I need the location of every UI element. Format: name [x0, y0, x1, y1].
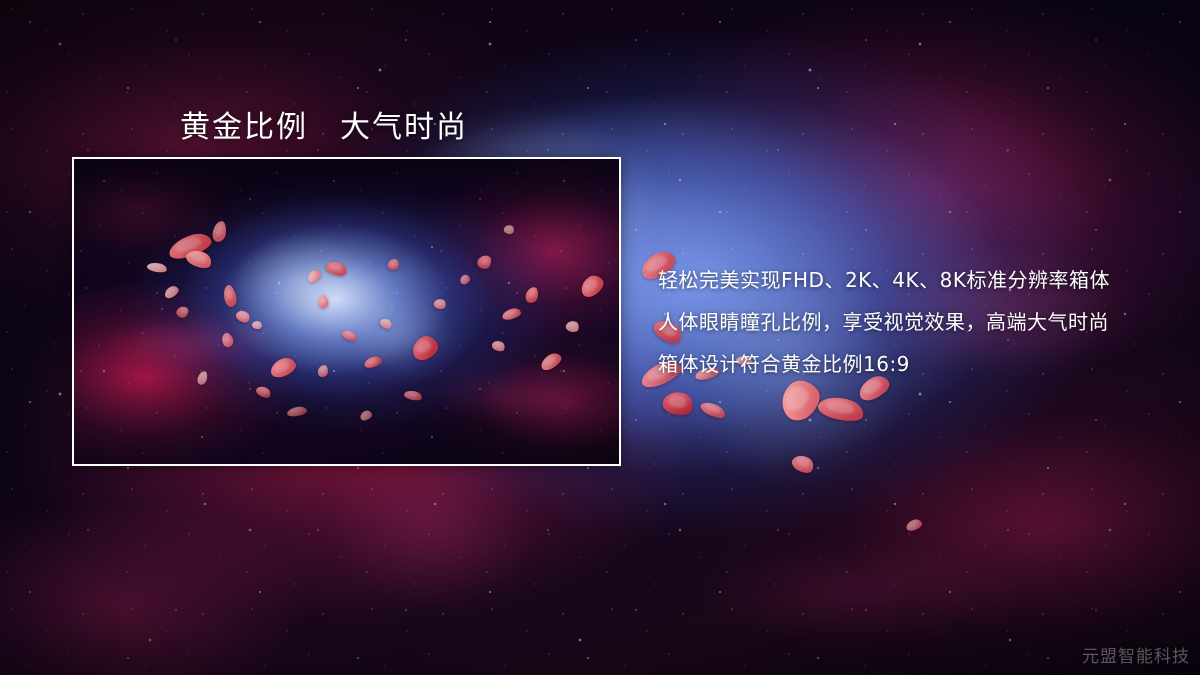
- page-title: 黄金比例 大气时尚: [180, 102, 468, 146]
- body-copy: 轻松完美实现FHD、2K、4K、8K标准分辨率箱体 人体眼睛瞳孔比例，享受视觉效…: [658, 259, 1178, 385]
- body-line-1: 轻松完美实现FHD、2K、4K、8K标准分辨率箱体: [658, 259, 1178, 301]
- flower-petal: [699, 399, 728, 421]
- flower-petal: [816, 393, 866, 425]
- body-line-3: 箱体设计符合黄金比例16:9: [658, 343, 1178, 385]
- product-image-frame: [72, 157, 621, 466]
- flower-petal: [905, 518, 923, 532]
- company-watermark: 元盟智能科技: [1082, 642, 1190, 667]
- nebula-petal-image: [74, 159, 619, 464]
- presentation-slide: 黄金比例 大气时尚 轻松完美实现FHD、2K、4K、8K标准分辨率箱体 人体眼睛…: [0, 0, 1200, 675]
- body-line-2: 人体眼睛瞳孔比例，享受视觉效果，高端大气时尚: [658, 301, 1178, 343]
- flower-petal: [789, 452, 816, 477]
- image-edge-shading: [74, 159, 619, 464]
- flower-petal: [660, 388, 695, 418]
